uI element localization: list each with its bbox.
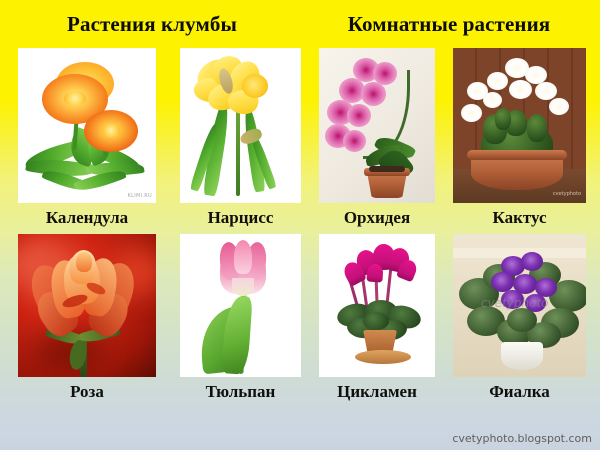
caption-violet: Фиалка xyxy=(453,377,586,407)
caption-orchid: Орхидея xyxy=(319,203,435,233)
plant-cell-cyclamen: Цикламен xyxy=(315,234,445,414)
plants-grid: KLIMI.RU Календула xyxy=(0,48,600,433)
cactus-photo: cvetyphoto xyxy=(453,48,586,203)
caption-calendula: Календула xyxy=(18,203,156,233)
plant-cell-tulip: Тюльпан xyxy=(170,234,315,414)
rose-photo xyxy=(18,234,156,377)
caption-tulip: Тюльпан xyxy=(180,377,301,407)
violet-photo: cvetyphoto xyxy=(453,234,586,377)
header-flowerbed-plants: Растения клумбы xyxy=(0,12,300,37)
header-indoor-plants: Комнатные растения xyxy=(300,12,600,37)
plant-cell-cactus: cvetyphoto Кактус xyxy=(445,48,600,234)
caption-cyclamen: Цикламен xyxy=(319,377,435,407)
narcissus-photo xyxy=(180,48,301,203)
caption-rose: Роза xyxy=(18,377,156,407)
headers-row: Растения клумбы Комнатные растения xyxy=(0,0,600,48)
plant-cell-narcissus: Нарцисс xyxy=(170,48,315,234)
plant-cell-violet: cvetyphoto Фиалка xyxy=(445,234,600,414)
plants-row-top: KLIMI.RU Календула xyxy=(0,48,600,234)
plants-poster: Растения клумбы Комнатные растения xyxy=(0,0,600,450)
calendula-watermark: KLIMI.RU xyxy=(128,193,152,199)
orchid-photo xyxy=(319,48,435,203)
plant-cell-orchid: Орхидея xyxy=(315,48,445,234)
cactus-watermark: cvetyphoto xyxy=(553,191,581,197)
plants-row-bottom: Роза Тюльпан xyxy=(0,234,600,414)
violet-watermark: cvetyphoto xyxy=(481,296,549,310)
cyclamen-photo xyxy=(319,234,435,377)
caption-narcissus: Нарцисс xyxy=(180,203,301,233)
site-watermark: cvetyphoto.blogspot.com xyxy=(452,432,592,445)
calendula-photo: KLIMI.RU xyxy=(18,48,156,203)
plant-cell-calendula: KLIMI.RU Календула xyxy=(0,48,170,234)
tulip-photo xyxy=(180,234,301,377)
plant-cell-rose: Роза xyxy=(0,234,170,414)
caption-cactus: Кактус xyxy=(453,203,586,233)
